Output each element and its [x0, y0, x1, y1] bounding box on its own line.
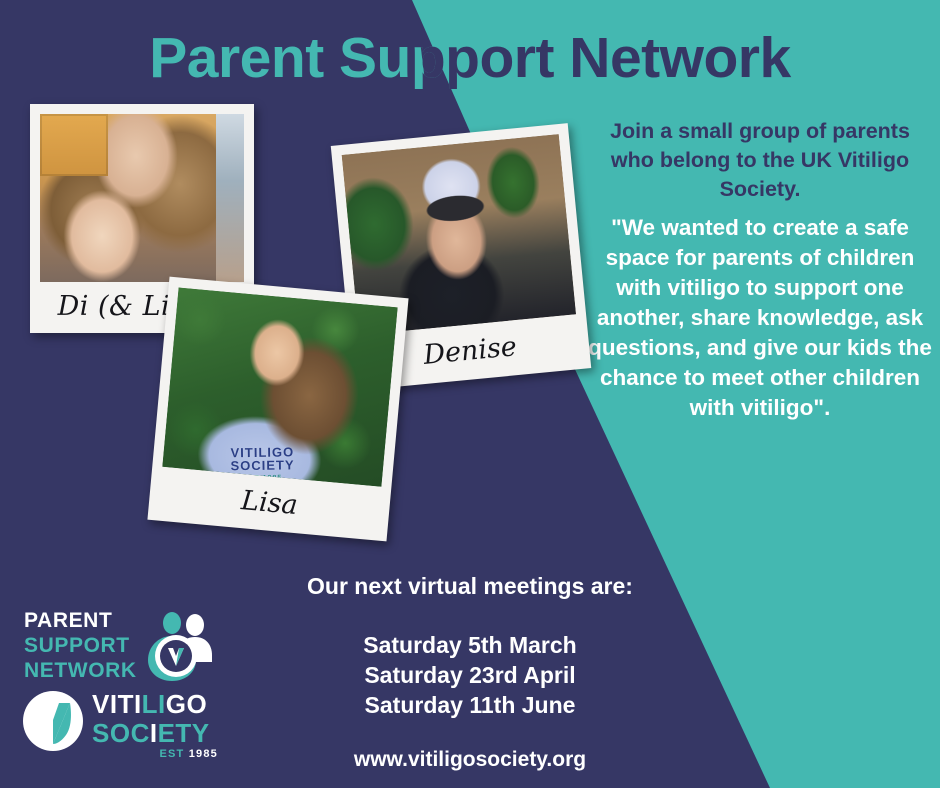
meeting-date: Saturday 5th March	[245, 630, 695, 660]
vs-est-label: EST 1985	[92, 748, 218, 760]
meetings-list: Saturday 5th March Saturday 23rd April S…	[245, 630, 695, 720]
meeting-date: Saturday 11th June	[245, 690, 695, 720]
psn-wordmark: PARENT SUPPORT NETWORK	[24, 608, 144, 683]
v-circle-icon	[22, 690, 84, 752]
psn-line-2: SUPPORT	[24, 633, 144, 658]
website-url[interactable]: www.vitiligosociety.org	[245, 748, 695, 772]
photo-image-lisa: VITILIGO SOCIETY EST 1985	[162, 287, 397, 486]
photo-image-di	[40, 114, 244, 282]
quote-text: "We wanted to create a safe space for pa…	[585, 213, 935, 423]
meetings-heading: Our next virtual meetings are:	[245, 573, 695, 600]
logo-parent-support-network: PARENT SUPPORT NETWORK	[24, 608, 204, 690]
psn-line-1: PARENT	[24, 608, 144, 633]
polaroid-photo-lisa: VITILIGO SOCIETY EST 1985 Lisa	[147, 277, 408, 542]
meeting-date: Saturday 23rd April	[245, 660, 695, 690]
psn-line-3: NETWORK	[24, 658, 144, 683]
poster-canvas: Parent Support Network Parent Support Ne…	[0, 0, 940, 788]
logo-vitiligo-society: VITILIGO SOCIETY EST 1985	[22, 690, 212, 762]
tshirt-line-2: SOCIETY	[214, 458, 310, 472]
vs-line-1: VITILIGO	[92, 690, 222, 719]
two-people-v-icon	[146, 610, 218, 682]
vs-wordmark: VITILIGO SOCIETY	[92, 690, 222, 748]
page-title: Parent Support Network Parent Support Ne…	[0, 22, 940, 94]
vs-line-2: SOCIETY	[92, 719, 222, 748]
intro-text: Join a small group of parents who belong…	[590, 117, 930, 204]
